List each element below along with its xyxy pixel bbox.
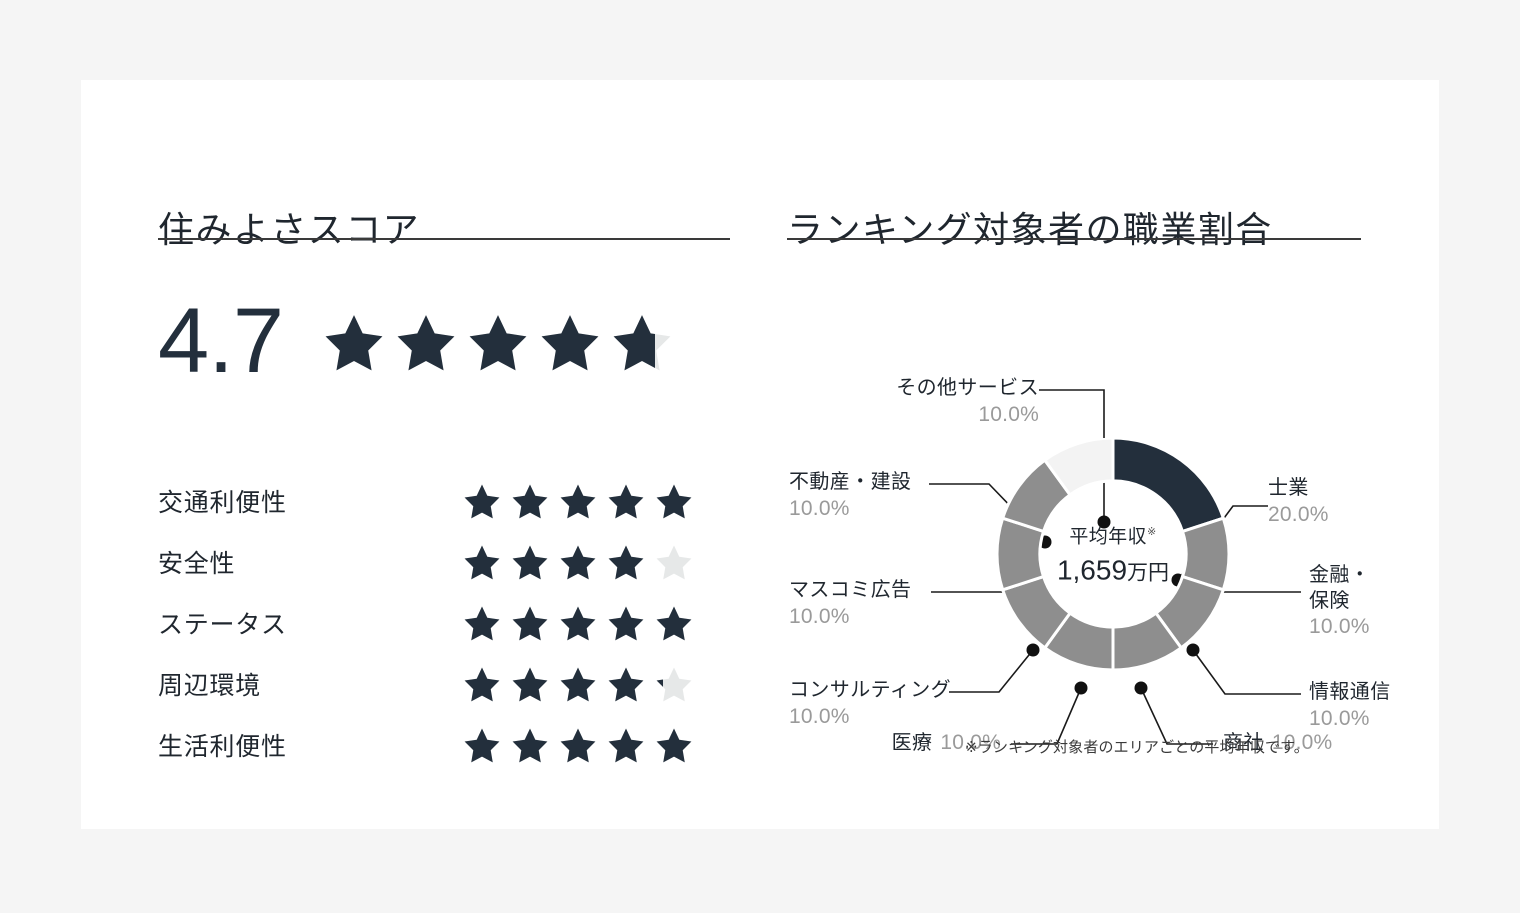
donut-slice[interactable] <box>1113 438 1223 531</box>
pie-label-joho-pct: 10.0% <box>1309 706 1391 733</box>
pie-label-sonota: その他サービス 10.0% <box>819 376 1039 428</box>
star-fill <box>511 665 549 703</box>
average-income-unit: 万円 <box>1127 562 1169 585</box>
pie-label-sonota-pct: 10.0% <box>819 402 1039 429</box>
sub-rating-row: ステータス <box>158 592 730 653</box>
star-fill <box>559 726 597 764</box>
page-title-occupation: ランキング対象者の職業割合 <box>787 212 1273 248</box>
star-fill <box>463 543 501 581</box>
sub-rating-label: 交通利便性 <box>158 483 458 519</box>
sub-rating-row: 交通利便性 <box>158 470 730 531</box>
overall-star-rating <box>323 311 673 373</box>
sub-rating-label: ステータス <box>158 605 458 641</box>
donut-center-annotation: 平均年収※ 1,659万円 <box>1033 522 1193 587</box>
pie-label-consul-name: コンサルティング <box>789 678 951 704</box>
star-icon <box>655 543 693 581</box>
star-fill <box>539 311 601 373</box>
star-fill <box>323 311 385 373</box>
star-fill <box>611 311 654 373</box>
footnote-text: ※ランキング対象者のエリアごとの平均年収です。 <box>965 736 1309 757</box>
star-icon <box>607 665 645 703</box>
sub-rating-row: 安全性 <box>158 531 730 592</box>
content-card: 住みよさスコア 4.7 交通利便性安全性ステータス周辺環境生活利便性 ランキング… <box>81 80 1439 829</box>
pie-label-fudosan: 不動産・建設 10.0% <box>789 470 911 522</box>
star-fill <box>559 482 597 520</box>
star-fill <box>607 482 645 520</box>
star-fill <box>559 543 597 581</box>
star-icon <box>559 726 597 764</box>
pie-label-fudosan-pct: 10.0% <box>789 496 911 523</box>
star-icon <box>463 726 501 764</box>
overall-score-row: 4.7 <box>158 298 673 385</box>
overall-score-value: 4.7 <box>158 298 283 385</box>
star-icon <box>655 482 693 520</box>
sub-rating-label: 生活利便性 <box>158 727 458 763</box>
sub-rating-label: 安全性 <box>158 544 458 580</box>
star-fill <box>511 604 549 642</box>
star-icon <box>463 543 501 581</box>
star-icon <box>323 311 385 373</box>
star-icon <box>655 604 693 642</box>
pie-label-kinyu: 金融・ 保険 10.0% <box>1309 563 1370 641</box>
pie-label-shigyo-name: 士業 <box>1268 476 1329 502</box>
star-icon <box>607 604 645 642</box>
star-fill <box>463 482 501 520</box>
star-icon <box>559 604 597 642</box>
pie-label-shigyo: 士業 20.0% <box>1268 476 1329 528</box>
star-icon <box>463 604 501 642</box>
star-fill <box>607 543 645 581</box>
sub-rating-row: 生活利便性 <box>158 714 730 775</box>
star-fill <box>607 726 645 764</box>
star-fill <box>463 604 501 642</box>
star-fill <box>511 726 549 764</box>
star-fill <box>607 604 645 642</box>
star-fill <box>655 604 693 642</box>
pie-label-masukomi-name: マスコミ広告 <box>789 578 911 604</box>
star-fill <box>511 543 549 581</box>
sub-rating-list: 交通利便性安全性ステータス周辺環境生活利便性 <box>158 470 730 775</box>
average-income-number: 1,659 <box>1057 555 1127 586</box>
star-fill <box>463 665 501 703</box>
sub-rating-label: 周辺環境 <box>158 666 458 702</box>
star-icon <box>611 311 673 373</box>
average-income-value: 1,659万円 <box>1033 555 1193 587</box>
star-icon <box>511 482 549 520</box>
star-fill <box>463 726 501 764</box>
pie-label-joho-name: 情報通信 <box>1309 680 1391 706</box>
occupation-ratio-panel: ランキング対象者の職業割合 <box>781 80 1439 829</box>
sub-rating-stars <box>463 604 693 642</box>
star-icon <box>463 482 501 520</box>
average-income-label-text: 平均年収 <box>1069 527 1147 548</box>
sub-rating-stars <box>463 543 693 581</box>
star-icon <box>655 726 693 764</box>
star-fill <box>559 665 597 703</box>
divider-right <box>787 238 1361 240</box>
star-icon <box>539 311 601 373</box>
donut-chart: 平均年収※ 1,659万円 <box>997 438 1229 670</box>
star-fill <box>559 604 597 642</box>
average-income-label: 平均年収※ <box>1033 522 1193 549</box>
star-icon <box>607 543 645 581</box>
star-fill <box>655 482 693 520</box>
star-fill <box>467 311 529 373</box>
star-icon <box>463 665 501 703</box>
star-fill <box>607 665 645 703</box>
donut-chart-area: 平均年収※ 1,659万円 士業 20.0% 金融・ 保険 10.0% 情報通信 <box>781 262 1439 782</box>
pie-label-consul: コンサルティング 10.0% <box>789 678 951 730</box>
pie-label-joho: 情報通信 10.0% <box>1309 680 1391 732</box>
pie-label-kinyu-pct: 10.0% <box>1309 614 1370 641</box>
pie-label-kinyu-name2: 保険 <box>1309 589 1370 615</box>
livability-score-panel: 住みよさスコア 4.7 交通利便性安全性ステータス周辺環境生活利便性 <box>81 80 781 829</box>
sub-rating-stars <box>463 482 693 520</box>
star-icon <box>559 482 597 520</box>
footnote-mark: ※ <box>1147 526 1157 538</box>
star-icon <box>655 665 693 703</box>
star-icon <box>607 482 645 520</box>
star-icon <box>511 665 549 703</box>
pie-label-shigyo-pct: 20.0% <box>1268 502 1329 529</box>
pie-label-masukomi-pct: 10.0% <box>789 604 911 631</box>
star-icon <box>511 726 549 764</box>
star-icon <box>511 604 549 642</box>
star-icon <box>395 311 457 373</box>
star-icon <box>511 543 549 581</box>
pie-label-masukomi: マスコミ広告 10.0% <box>789 578 911 630</box>
pie-label-fudosan-name: 不動産・建設 <box>789 470 911 496</box>
sub-rating-stars <box>463 665 693 703</box>
sub-rating-stars <box>463 726 693 764</box>
star-fill <box>395 311 457 373</box>
pie-label-kinyu-name: 金融・ <box>1309 563 1370 589</box>
star-icon <box>467 311 529 373</box>
star-icon <box>559 543 597 581</box>
page-title-livability: 住みよさスコア <box>158 212 420 248</box>
pie-label-sonota-name: その他サービス <box>819 376 1039 402</box>
star-fill <box>655 726 693 764</box>
divider-left <box>158 238 730 240</box>
star-fill <box>511 482 549 520</box>
star-fill <box>655 665 663 703</box>
pie-label-iryo-name: 医療 <box>892 732 933 754</box>
star-icon <box>607 726 645 764</box>
star-icon <box>559 665 597 703</box>
sub-rating-row: 周辺環境 <box>158 653 730 714</box>
pie-label-consul-pct: 10.0% <box>789 704 951 731</box>
